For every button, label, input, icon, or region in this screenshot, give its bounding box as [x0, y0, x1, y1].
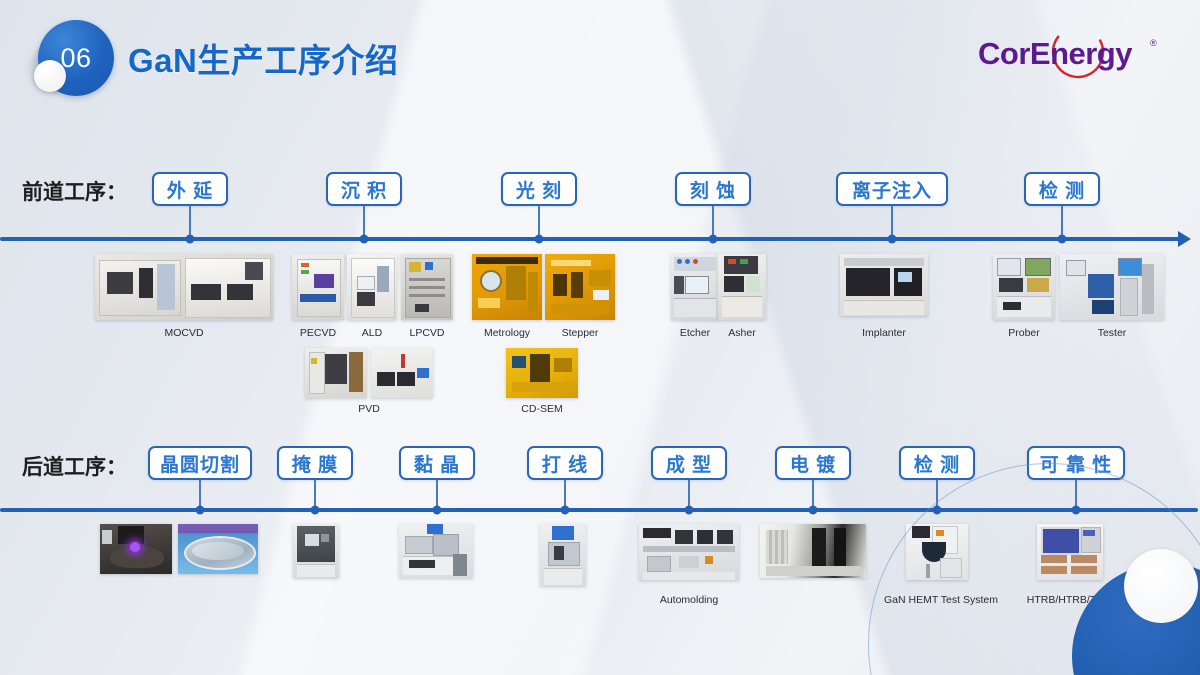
equipment-label-implanter: Implanter — [862, 327, 906, 339]
process-box-label: 刻 蚀 — [690, 176, 736, 203]
timeline-node — [888, 235, 897, 244]
logo-svg: CorEnergy ® — [972, 24, 1172, 86]
process-box-backend-2[interactable]: 掩 膜 — [277, 446, 353, 480]
badge-accent-dot — [34, 60, 66, 92]
equipment-thumb-plating — [760, 524, 866, 578]
equipment-label-stepper: Stepper — [562, 327, 599, 339]
corenergy-logo: CorEnergy ® — [972, 24, 1172, 86]
process-box-label: 打 线 — [542, 450, 588, 477]
equipment-label-metrology: Metrology — [484, 327, 530, 339]
equipment-label-pecvd: PECVD — [300, 327, 336, 339]
process-box-backend-6[interactable]: 电 镀 — [775, 446, 851, 480]
process-box-backend-4[interactable]: 打 线 — [527, 446, 603, 480]
equipment-thumb-stepper — [545, 254, 615, 320]
equipment-thumb-pvd-b — [371, 348, 433, 398]
process-box-backend-5[interactable]: 成 型 — [651, 446, 727, 480]
equipment-thumb-pvd-a — [305, 348, 367, 398]
equipment-label-cdsem: CD-SEM — [521, 403, 562, 415]
equipment-thumb-automolding — [639, 524, 739, 580]
equipment-thumb-mocvd — [95, 254, 273, 320]
equipment-label-ald: ALD — [362, 327, 382, 339]
process-box-label: 检 测 — [1039, 176, 1085, 203]
process-box-label: 沉 积 — [341, 176, 387, 203]
process-box-label: 检 测 — [914, 450, 960, 477]
equipment-thumb-implanter — [840, 254, 928, 316]
process-box-frontend-6[interactable]: 检 测 — [1024, 172, 1100, 206]
equipment-label-etcher: Etcher — [680, 327, 710, 339]
process-box-backend-3[interactable]: 黏 晶 — [399, 446, 475, 480]
badge-number: 06 — [60, 43, 91, 74]
equipment-thumb-pecvd — [292, 254, 344, 320]
frontend-section-label: 前道工序： — [22, 176, 127, 206]
equipment-thumb-ald — [347, 254, 397, 320]
equipment-thumb-prober — [993, 254, 1055, 320]
equipment-thumb-cdsem — [506, 348, 578, 398]
timeline-node — [809, 506, 818, 515]
process-box-frontend-5[interactable]: 离子注入 — [836, 172, 948, 206]
process-box-label: 晶圆切割 — [160, 450, 240, 477]
equipment-label-asher: Asher — [728, 327, 755, 339]
equipment-thumb-masking — [293, 524, 339, 578]
page-title: GaN生产工序介绍 — [128, 34, 398, 82]
process-box-label: 成 型 — [666, 450, 712, 477]
equipment-label-prober: Prober — [1008, 327, 1040, 339]
equipment-thumb-tester — [1060, 254, 1164, 320]
equipment-thumb-wafer — [178, 524, 258, 574]
equipment-label-automolding: Automolding — [660, 594, 718, 606]
process-box-label: 外 延 — [167, 176, 213, 203]
equipment-thumb-metrology — [472, 254, 542, 320]
process-box-frontend-2[interactable]: 沉 积 — [326, 172, 402, 206]
frontend-timeline — [0, 237, 1180, 241]
equipment-thumb-lpcvd — [401, 254, 453, 320]
equipment-label-tester: Tester — [1098, 327, 1127, 339]
timeline-node — [561, 506, 570, 515]
equipment-thumb-wire-bonder — [540, 524, 586, 586]
process-box-label: 离子注入 — [852, 176, 932, 203]
equipment-label-mocvd: MOCVD — [164, 327, 203, 339]
frontend-timeline-arrow — [1178, 231, 1191, 247]
timeline-node — [311, 506, 320, 515]
timeline-node — [360, 235, 369, 244]
timeline-node — [186, 235, 195, 244]
timeline-node — [196, 506, 205, 515]
process-box-frontend-3[interactable]: 光 刻 — [501, 172, 577, 206]
process-box-label: 电 镀 — [790, 450, 836, 477]
backend-section-label: 后道工序： — [22, 451, 127, 481]
logo-trademark: ® — [1150, 38, 1157, 48]
process-box-label: 掩 膜 — [292, 450, 338, 477]
process-box-frontend-4[interactable]: 刻 蚀 — [675, 172, 751, 206]
timeline-node — [433, 506, 442, 515]
slide-canvas: 06 GaN生产工序介绍 CorEnergy ® 前道工序： 外 延 沉 积 光… — [0, 0, 1200, 675]
process-box-backend-7[interactable]: 检 测 — [899, 446, 975, 480]
equipment-thumb-etcher — [671, 254, 719, 320]
timeline-node — [1058, 235, 1067, 244]
equipment-thumb-dicing — [100, 524, 172, 574]
equipment-thumb-asher — [718, 254, 766, 320]
process-box-label: 黏 晶 — [414, 450, 460, 477]
equipment-thumb-die-bonder — [399, 524, 473, 578]
timeline-node — [685, 506, 694, 515]
equipment-label-lpcvd: LPCVD — [409, 327, 444, 339]
decorative-white-circle — [1124, 549, 1198, 623]
timeline-node — [709, 235, 718, 244]
equipment-label-pvd: PVD — [358, 403, 380, 415]
process-box-frontend-1[interactable]: 外 延 — [152, 172, 228, 206]
process-box-label: 光 刻 — [516, 176, 562, 203]
timeline-node — [535, 235, 544, 244]
logo-wordmark: CorEnergy — [978, 36, 1133, 71]
process-box-backend-1[interactable]: 晶圆切割 — [148, 446, 252, 480]
